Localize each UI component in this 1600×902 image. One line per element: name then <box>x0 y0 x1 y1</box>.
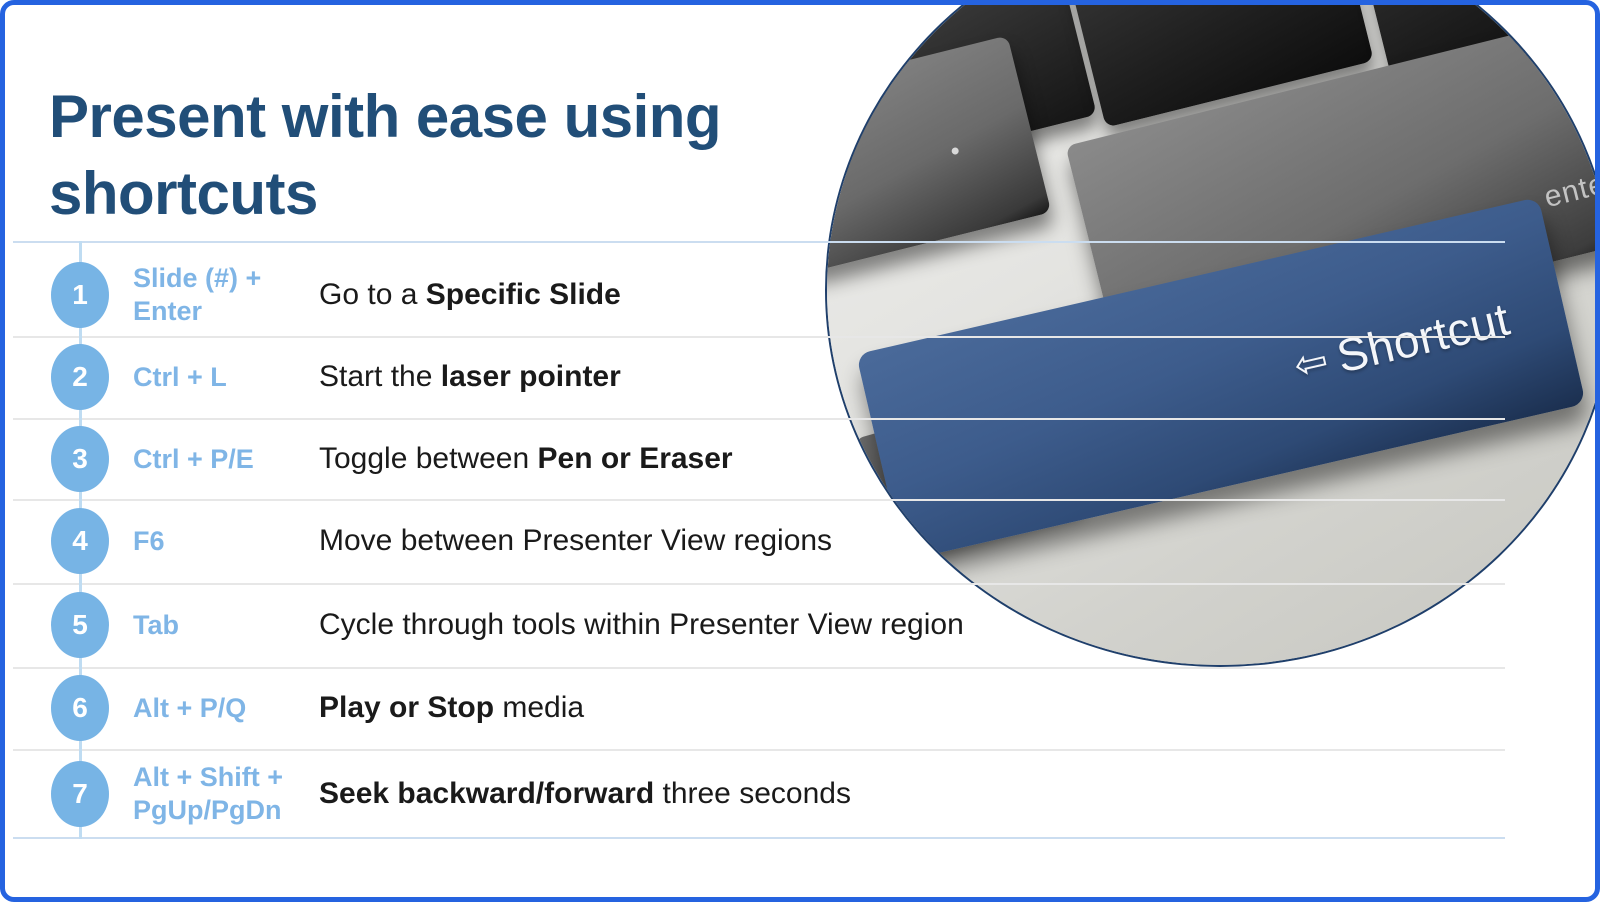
row-shortcut-keys: Alt + P/Q <box>133 692 319 725</box>
table-row[interactable]: 4 F6 Move between Presenter View regions <box>13 503 1505 579</box>
table-row[interactable]: 2 Ctrl + L Start the laser pointer <box>13 340 1505 414</box>
keyboard-key-dark-middle <box>1060 0 1374 128</box>
row-description: Play or Stop media <box>319 690 1505 726</box>
row-number-badge: 1 <box>51 262 109 328</box>
keyboard-key-dark-left <box>825 0 1097 178</box>
row-number-badge: 5 <box>51 592 109 658</box>
row-divider-5 <box>13 667 1505 669</box>
row-divider-1 <box>13 336 1505 338</box>
row-description: Cycle through tools within Presenter Vie… <box>319 607 1505 643</box>
row-number-badge: 7 <box>51 761 109 827</box>
row-shortcut-keys: Alt + Shift + PgUp/PgDn <box>133 761 319 827</box>
row-number-badge: 6 <box>51 675 109 741</box>
row-divider-3 <box>13 499 1505 501</box>
table-row[interactable]: 7 Alt + Shift + PgUp/PgDn Seek backward/… <box>13 753 1505 835</box>
page-title: Present with ease using shortcuts <box>49 79 839 233</box>
row-number-badge: 2 <box>51 344 109 410</box>
row-description: Seek backward/forward three seconds <box>319 776 1505 812</box>
row-description: Start the laser pointer <box>319 359 1505 395</box>
row-shortcut-keys: Slide (#) + Enter <box>133 262 319 328</box>
slide-canvas: Present with ease using shortcuts enter … <box>0 0 1600 902</box>
keyboard-key-dark-right <box>1347 0 1600 94</box>
row-description: Toggle between Pen or Eraser <box>319 441 1505 477</box>
table-row[interactable]: 6 Alt + P/Q Play or Stop media <box>13 671 1505 745</box>
row-divider-bottom <box>13 837 1505 839</box>
keyboard-key-gray-left <box>825 35 1051 272</box>
row-number-badge: 3 <box>51 426 109 492</box>
table-row[interactable]: 5 Tab Cycle through tools within Present… <box>13 587 1505 663</box>
row-divider-top <box>13 241 1505 243</box>
row-divider-4 <box>13 583 1505 585</box>
row-shortcut-keys: Ctrl + L <box>133 361 319 394</box>
row-description: Go to a Specific Slide <box>319 277 1505 313</box>
table-row[interactable]: 1 Slide (#) + Enter Go to a Specific Sli… <box>13 257 1505 333</box>
row-number-badge: 4 <box>51 508 109 574</box>
row-divider-6 <box>13 749 1505 751</box>
table-row[interactable]: 3 Ctrl + P/E Toggle between Pen or Erase… <box>13 422 1505 496</box>
enter-key-label: enter <box>1541 164 1600 215</box>
row-description: Move between Presenter View regions <box>319 523 1505 559</box>
row-shortcut-keys: Ctrl + P/E <box>133 443 319 476</box>
row-shortcut-keys: Tab <box>133 609 319 642</box>
row-divider-2 <box>13 418 1505 420</box>
row-shortcut-keys: F6 <box>133 525 319 558</box>
